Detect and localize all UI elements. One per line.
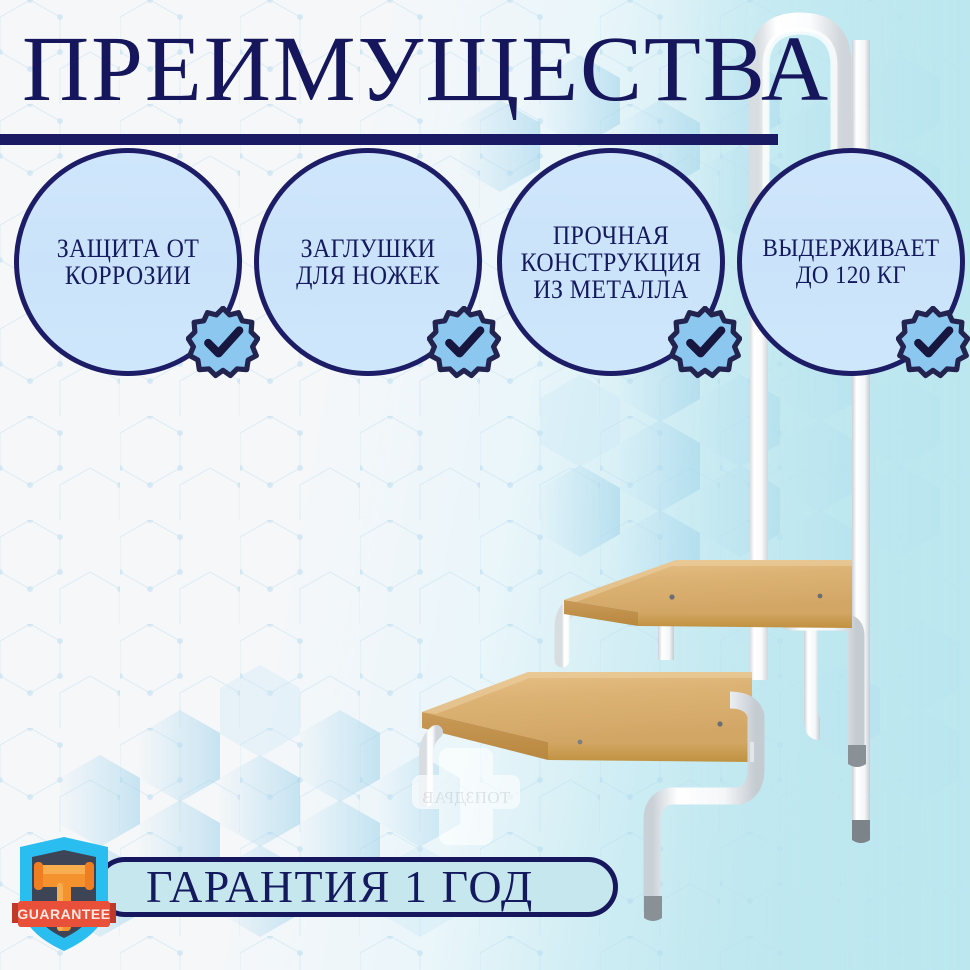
check-badge-icon (427, 306, 501, 380)
watermark-text: ТОПЗДРАВ (406, 788, 526, 808)
feature-circle-label: ПРОЧНАЯ КОНСТРУКЦИЯ ИЗ МЕТАЛЛА (516, 222, 706, 303)
guarantee-banner-text: ГАРАНТИЯ 1 ГОД (146, 864, 534, 910)
page-title: ПРЕИМУЩЕСТВА (22, 22, 830, 118)
check-badge-icon (896, 306, 970, 380)
feature-circle-label: ЗАГЛУШКИ ДЛЯ НОЖЕК (276, 235, 460, 289)
check-badge-icon (668, 306, 742, 380)
feature-circle-label: ВЫДЕРЖИВАЕТ ДО 120 КГ (753, 235, 948, 289)
watermark: ТОПЗДРАВ (406, 742, 526, 852)
guarantee-ribbon-text: GUARANTEE (17, 906, 110, 922)
guarantee-banner[interactable]: ГАРАНТИЯ 1 ГОД (95, 857, 618, 917)
feature-circle-label: ЗАЩИТА ОТ КОРРОЗИИ (36, 235, 220, 289)
page-title-block: ПРЕИМУЩЕСТВА (0, 22, 800, 142)
title-underline (0, 134, 778, 145)
guarantee-shield-hammer-icon: GUARANTEE (12, 833, 116, 955)
check-badge-icon (186, 306, 260, 380)
poster-stage: ТОПЗДРАВ ПРЕИМУЩЕСТВА ЗАЩИТА ОТ КОРРОЗИИ… (0, 0, 970, 970)
